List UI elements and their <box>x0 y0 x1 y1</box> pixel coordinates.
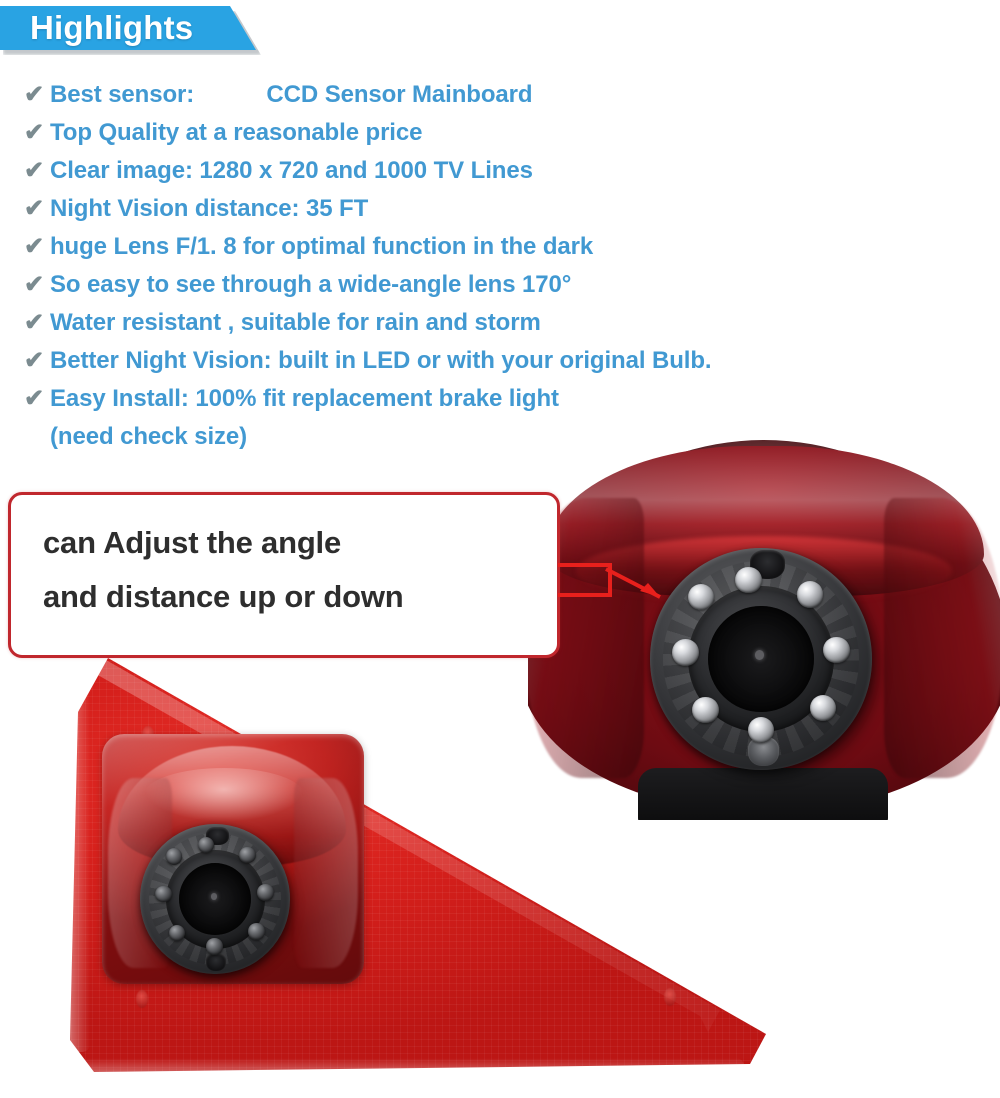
led-3 <box>823 637 850 664</box>
light-sensor-bottom-icon <box>206 953 226 971</box>
mount-point-bottom-right <box>664 988 676 1006</box>
camera-pod-housing <box>102 734 364 984</box>
camera-closeup-photo <box>528 440 1000 820</box>
led-4 <box>248 923 265 940</box>
list-item: ✔ Top Quality at a reasonable price <box>24 116 864 154</box>
list-item: ✔ Best sensor: CCD Sensor Mainboard <box>24 78 864 116</box>
list-item-label: Top Quality at a reasonable price <box>50 116 422 150</box>
brake-light-left-edge-highlight <box>66 682 90 1052</box>
led-6 <box>692 697 719 724</box>
list-item-label: Better Night Vision: built in LED or wit… <box>50 344 711 378</box>
led-3 <box>257 884 274 901</box>
list-item-label: Night Vision distance: 35 FT <box>50 192 368 226</box>
list-item: ✔ So easy to see through a wide-angle le… <box>24 268 864 306</box>
mount-point-bottom-left <box>136 990 148 1008</box>
list-item-label: Best sensor: CCD Sensor Mainboard <box>50 78 532 112</box>
list-item: ✔ Easy Install: 100% fit replacement bra… <box>24 382 864 420</box>
check-icon: ✔ <box>24 382 50 416</box>
led-2 <box>797 581 824 608</box>
list-item: ✔ Clear image: 1280 x 720 and 1000 TV Li… <box>24 154 864 192</box>
led-5 <box>206 938 223 955</box>
camera-lens <box>708 606 815 713</box>
camera-lens <box>179 863 251 935</box>
highlights-feature-list: ✔ Best sensor: CCD Sensor Mainboard ✔ To… <box>24 78 864 458</box>
check-icon: ✔ <box>24 230 50 264</box>
highlights-banner: Highlights <box>0 6 262 52</box>
led-2 <box>239 847 256 864</box>
list-item-label: Easy Install: 100% fit replacement brake… <box>50 382 559 416</box>
brake-light-bottom-edge-highlight <box>74 1058 744 1074</box>
check-icon: ✔ <box>24 192 50 226</box>
check-icon: ✔ <box>24 154 50 188</box>
led-8 <box>166 848 183 865</box>
closeup-camera-module <box>650 548 872 770</box>
check-icon: ✔ <box>24 116 50 150</box>
led-7 <box>672 639 699 666</box>
page-title: Highlights <box>30 9 193 47</box>
list-item-label: huge Lens F/1. 8 for optimal function in… <box>50 230 593 264</box>
list-item: ✔ Night Vision distance: 35 FT <box>24 192 864 230</box>
list-item: ✔ Better Night Vision: built in LED or w… <box>24 344 864 382</box>
list-item-label: So easy to see through a wide-angle lens… <box>50 268 571 302</box>
check-icon: ✔ <box>24 306 50 340</box>
list-item: ✔ huge Lens F/1. 8 for optimal function … <box>24 230 864 268</box>
unit-camera-module <box>140 824 290 974</box>
check-icon: ✔ <box>24 344 50 378</box>
led-7 <box>155 886 172 903</box>
list-item: ✔ Water resistant , suitable for rain an… <box>24 306 864 344</box>
list-item-label: Clear image: 1280 x 720 and 1000 TV Line… <box>50 154 533 188</box>
check-icon: ✔ <box>24 268 50 302</box>
closeup-right-reflection <box>884 498 1000 778</box>
list-item-continuation-label: (need check size) <box>50 420 247 454</box>
camera-pod-right-shade <box>294 778 358 968</box>
led-6 <box>169 925 186 942</box>
check-icon: ✔ <box>24 78 50 112</box>
list-item-label: Water resistant , suitable for rain and … <box>50 306 541 340</box>
callout-line-1: can Adjust the angle <box>43 525 341 561</box>
callout-line-2: and distance up or down <box>43 579 404 615</box>
adjust-angle-callout: can Adjust the angle and distance up or … <box>8 492 560 658</box>
